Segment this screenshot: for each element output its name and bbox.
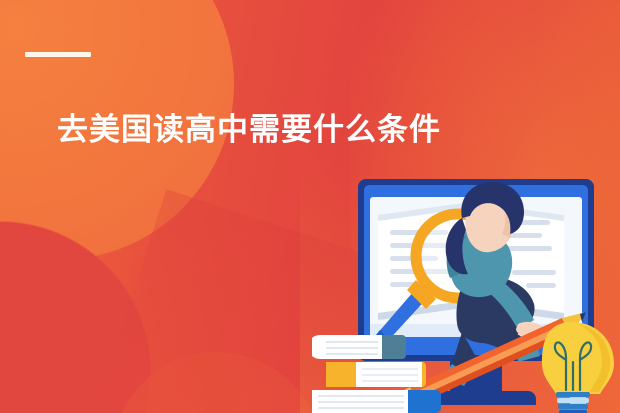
online-learning-illustration (312, 172, 620, 413)
banner: 去美国读高中需要什么条件 (0, 0, 620, 413)
page-title: 去美国读高中需要什么条件 (57, 110, 441, 150)
lightbulb-icon (542, 322, 614, 413)
accent-rule (25, 52, 91, 57)
